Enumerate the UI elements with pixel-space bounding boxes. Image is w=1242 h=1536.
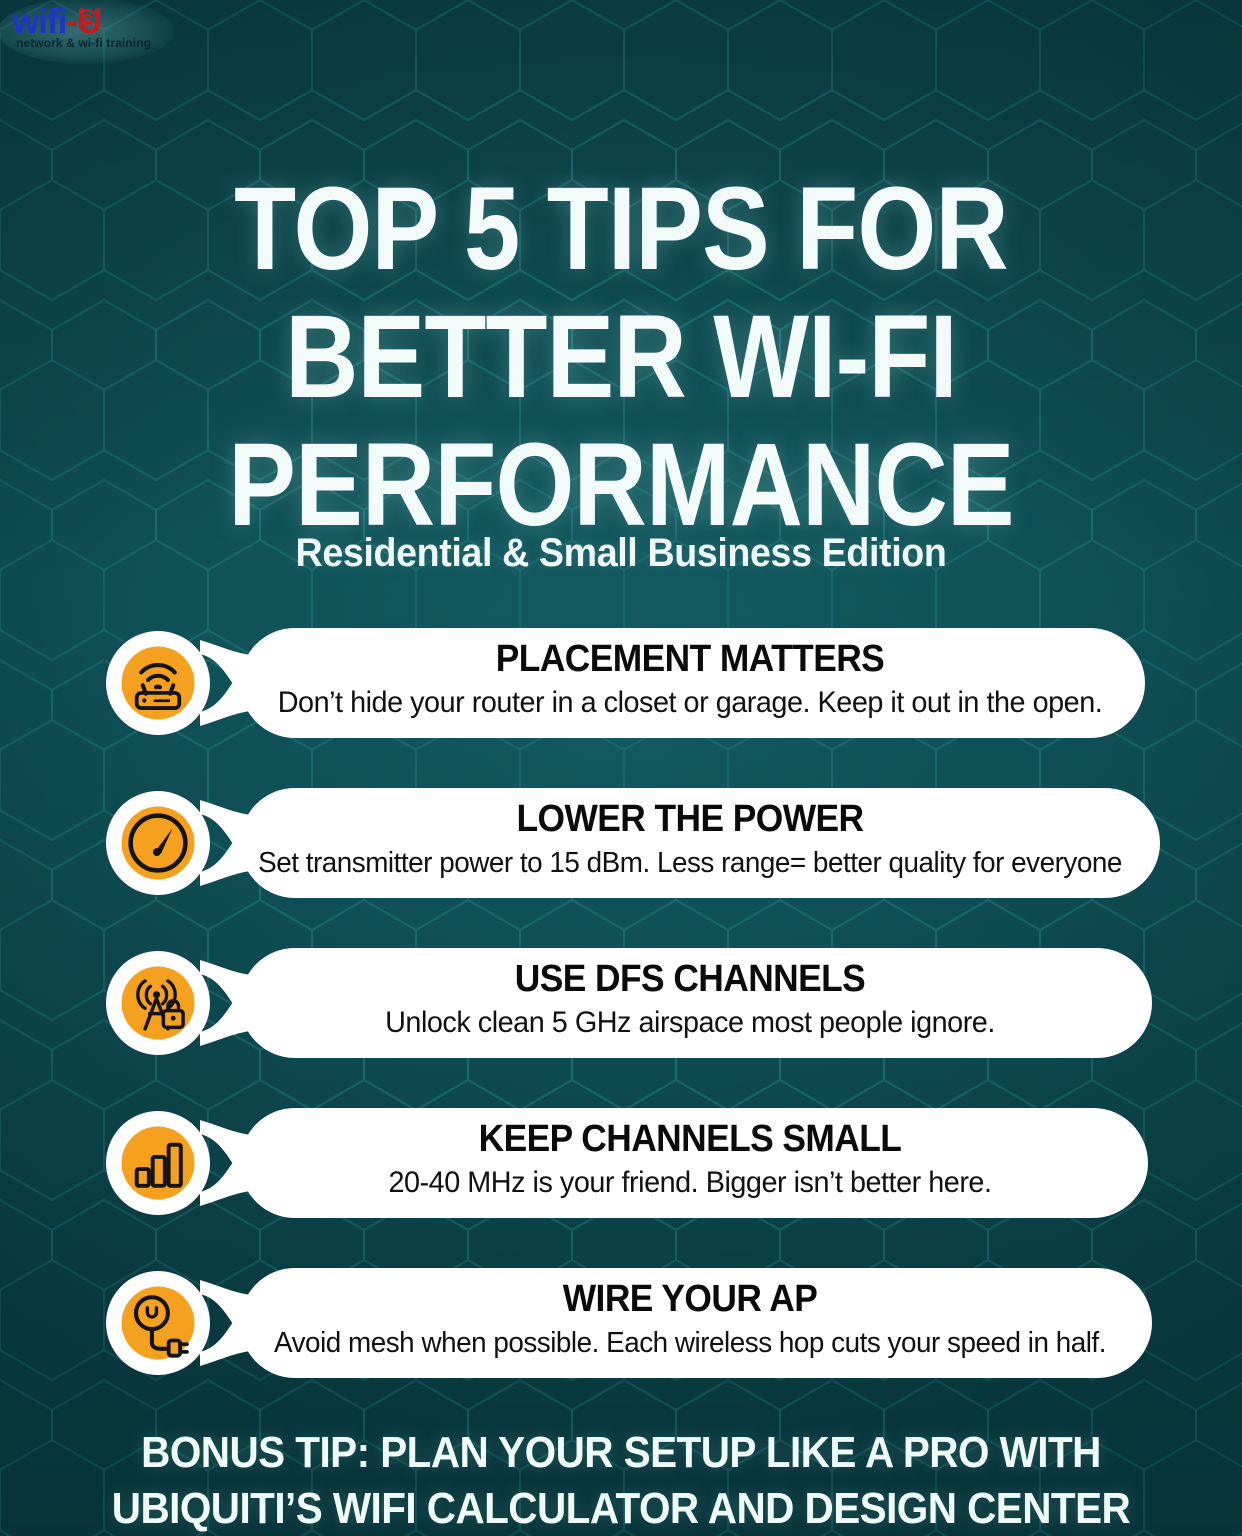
gauge-speedometer-icon [120,805,196,881]
tips-list: PLACEMENT MATTERS Don’t hide your router… [0,618,1242,1418]
router-wifi-icon [120,645,196,721]
bonus-line-2: UBIQUITI’S WIFI CALCULATOR AND DESIGN CE… [50,1481,1193,1536]
wifi-signal-icon [76,5,98,25]
tip-row[interactable]: PLACEMENT MATTERS Don’t hide your router… [0,618,1242,778]
tip-title: PLACEMENT MATTERS [258,636,1123,682]
tip-row[interactable]: KEEP CHANNELS SMALL 20-40 MHz is your fr… [0,1098,1242,1258]
tip-description: Unlock clean 5 GHz airspace most people … [244,1003,1137,1043]
logo-tagline: network & wi-fi training [8,36,158,50]
tip-title: WIRE YOUR AP [258,1276,1123,1322]
tip-text-block: KEEP CHANNELS SMALL 20-40 MHz is your fr… [225,1116,1155,1203]
tip-description: Don’t hide your router in a closet or ga… [244,683,1137,723]
tip-text-block: LOWER THE POWER Set transmitter power to… [225,796,1155,883]
tip-row[interactable]: USE DFS CHANNELS Unlock clean 5 GHz airs… [0,938,1242,1098]
cable-plug-icon [120,1285,196,1361]
bar-chart-icon [120,1125,196,1201]
logo-wordmark: wifi-U [8,4,158,39]
brand-logo[interactable]: wifi-U network & wi-fi training [8,4,158,56]
page-title: TOP 5 TIPS FOR BETTER WI-FI PERFORMANCE [87,165,1155,549]
bonus-line-1: BONUS TIP: PLAN YOUR SETUP LIKE A PRO WI… [50,1425,1193,1481]
antenna-tower-lock-icon [120,965,196,1041]
bonus-tip: BONUS TIP: PLAN YOUR SETUP LIKE A PRO WI… [50,1425,1193,1536]
tip-title: USE DFS CHANNELS [258,956,1123,1002]
tip-title: KEEP CHANNELS SMALL [258,1116,1123,1162]
tip-description: 20-40 MHz is your friend. Bigger isn’t b… [244,1163,1137,1203]
subtitle: Residential & Small Business Edition [37,529,1204,577]
tip-row[interactable]: LOWER THE POWER Set transmitter power to… [0,778,1242,938]
tip-text-block: USE DFS CHANNELS Unlock clean 5 GHz airs… [225,956,1155,1043]
tip-text-block: PLACEMENT MATTERS Don’t hide your router… [225,636,1155,723]
tip-description: Set transmitter power to 15 dBm. Less ra… [244,843,1137,883]
infographic-poster: wifi-U network & wi-fi training TOP 5 TI… [0,0,1242,1536]
title-line-2: BETTER WI-FI [87,293,1155,421]
tip-title: LOWER THE POWER [258,796,1123,842]
tip-row[interactable]: WIRE YOUR AP Avoid mesh when possible. E… [0,1258,1242,1418]
title-line-1: TOP 5 TIPS FOR [87,165,1155,293]
tip-text-block: WIRE YOUR AP Avoid mesh when possible. E… [225,1276,1155,1363]
tip-description: Avoid mesh when possible. Each wireless … [244,1323,1137,1363]
